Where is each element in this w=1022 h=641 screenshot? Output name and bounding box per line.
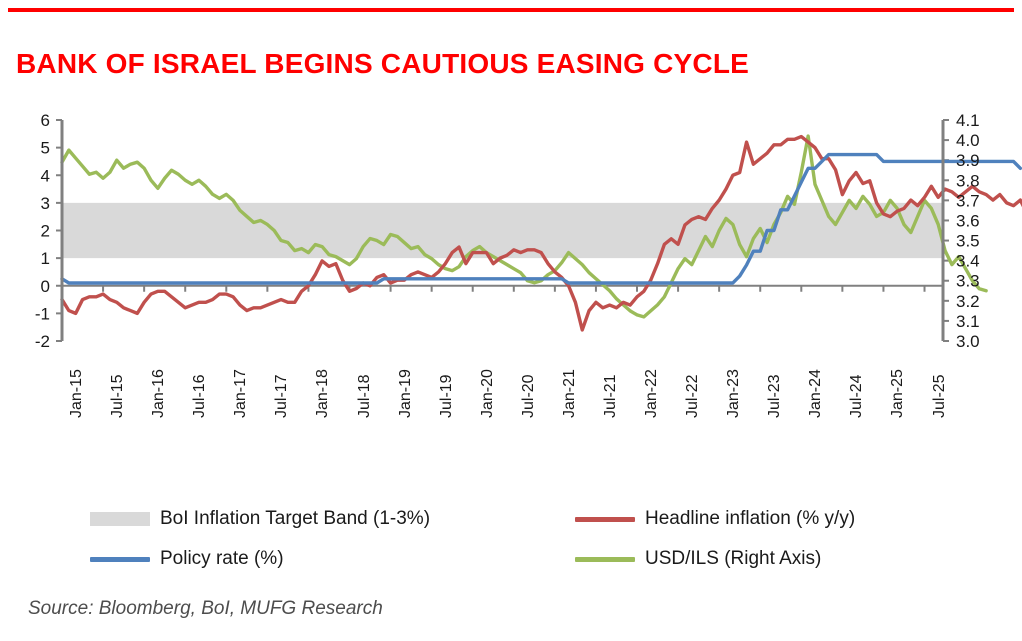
svg-text:3.0: 3.0 [956, 332, 980, 351]
x-axis-tick-label: Jan-23 [725, 369, 743, 418]
svg-text:0: 0 [41, 277, 50, 296]
top-accent-rule [8, 8, 1014, 12]
svg-text:3.8: 3.8 [956, 171, 980, 190]
x-axis-tick-label: Jul-16 [191, 374, 209, 418]
x-axis-tick-label: Jan-24 [807, 369, 825, 418]
legend-item-usd-ils: USD/ILS (Right Axis) [575, 548, 821, 570]
x-axis-tick-label: Jul-20 [520, 374, 538, 418]
x-axis-tick-label: Jul-15 [109, 374, 127, 418]
x-axis-tick-label: Jan-20 [479, 369, 497, 418]
svg-text:3.9: 3.9 [956, 151, 980, 170]
x-axis-tick-label: Jan-16 [150, 369, 168, 418]
x-axis-tick-label: Jan-15 [68, 369, 86, 418]
legend-swatch-line-icon [575, 517, 635, 522]
legend-swatch-line-icon [575, 557, 635, 562]
x-axis-tick-label: Jan-19 [397, 369, 415, 418]
right-axis-labels: 3.03.13.23.33.43.53.63.73.83.94.04.1 [956, 111, 980, 351]
x-axis-tick-label: Jul-22 [684, 374, 702, 418]
chart-title: BANK OF ISRAEL BEGINS CAUTIOUS EASING CY… [16, 48, 749, 80]
svg-text:3: 3 [41, 194, 50, 213]
svg-text:6: 6 [41, 111, 50, 130]
source-note: Source: Bloomberg, BoI, MUFG Research [28, 598, 383, 620]
legend-item-band: BoI Inflation Target Band (1-3%) [90, 508, 430, 530]
legend-item-headline-inflation: Headline inflation (% y/y) [575, 508, 855, 530]
x-axis-tick-label: Jan-17 [232, 369, 250, 418]
legend-label: USD/ILS (Right Axis) [645, 548, 821, 570]
x-axis-tick-label: Jul-17 [273, 374, 291, 418]
x-axis-tick-label: Jan-25 [889, 369, 907, 418]
svg-text:1: 1 [41, 249, 50, 268]
left-axis-labels: -2-10123456 [35, 111, 50, 351]
svg-text:4.0: 4.0 [956, 131, 980, 150]
legend-item-policy-rate: Policy rate (%) [90, 548, 284, 570]
svg-text:3.5: 3.5 [956, 232, 980, 251]
svg-text:3.6: 3.6 [956, 211, 980, 230]
svg-text:3.4: 3.4 [956, 252, 980, 271]
svg-text:3.1: 3.1 [956, 312, 980, 331]
x-axis-tick-label: Jul-21 [602, 374, 620, 418]
svg-text:-2: -2 [35, 332, 50, 351]
legend-swatch-line-icon [90, 557, 150, 562]
x-axis-tick-label: Jan-22 [643, 369, 661, 418]
svg-text:3.2: 3.2 [956, 292, 980, 311]
x-axis-tick-label: Jan-18 [314, 369, 332, 418]
legend-label: Policy rate (%) [160, 548, 284, 570]
x-axis-tick-label: Jul-19 [438, 374, 456, 418]
svg-text:2: 2 [41, 222, 50, 241]
legend-swatch-band-icon [90, 512, 150, 526]
x-axis-tick-label: Jul-23 [766, 374, 784, 418]
x-axis-label-group: Jan-15Jul-15Jan-16Jul-16Jan-17Jul-17Jan-… [0, 418, 1022, 508]
legend-label: BoI Inflation Target Band (1-3%) [160, 508, 430, 530]
svg-text:4: 4 [41, 166, 50, 185]
x-axis-tick-label: Jul-24 [848, 374, 866, 418]
svg-text:4.1: 4.1 [956, 111, 980, 130]
x-axis-tick-label: Jul-18 [356, 374, 374, 418]
x-axis-tick-label: Jan-21 [561, 369, 579, 418]
svg-text:3.3: 3.3 [956, 272, 980, 291]
inflation-target-band [63, 203, 943, 258]
svg-text:3.7: 3.7 [956, 191, 980, 210]
chart-legend: BoI Inflation Target Band (1-3%) Headlin… [0, 500, 1022, 580]
legend-label: Headline inflation (% y/y) [645, 508, 855, 530]
svg-text:-1: -1 [35, 304, 50, 323]
svg-text:5: 5 [41, 139, 50, 158]
x-axis-tick-label: Jul-25 [931, 374, 949, 418]
